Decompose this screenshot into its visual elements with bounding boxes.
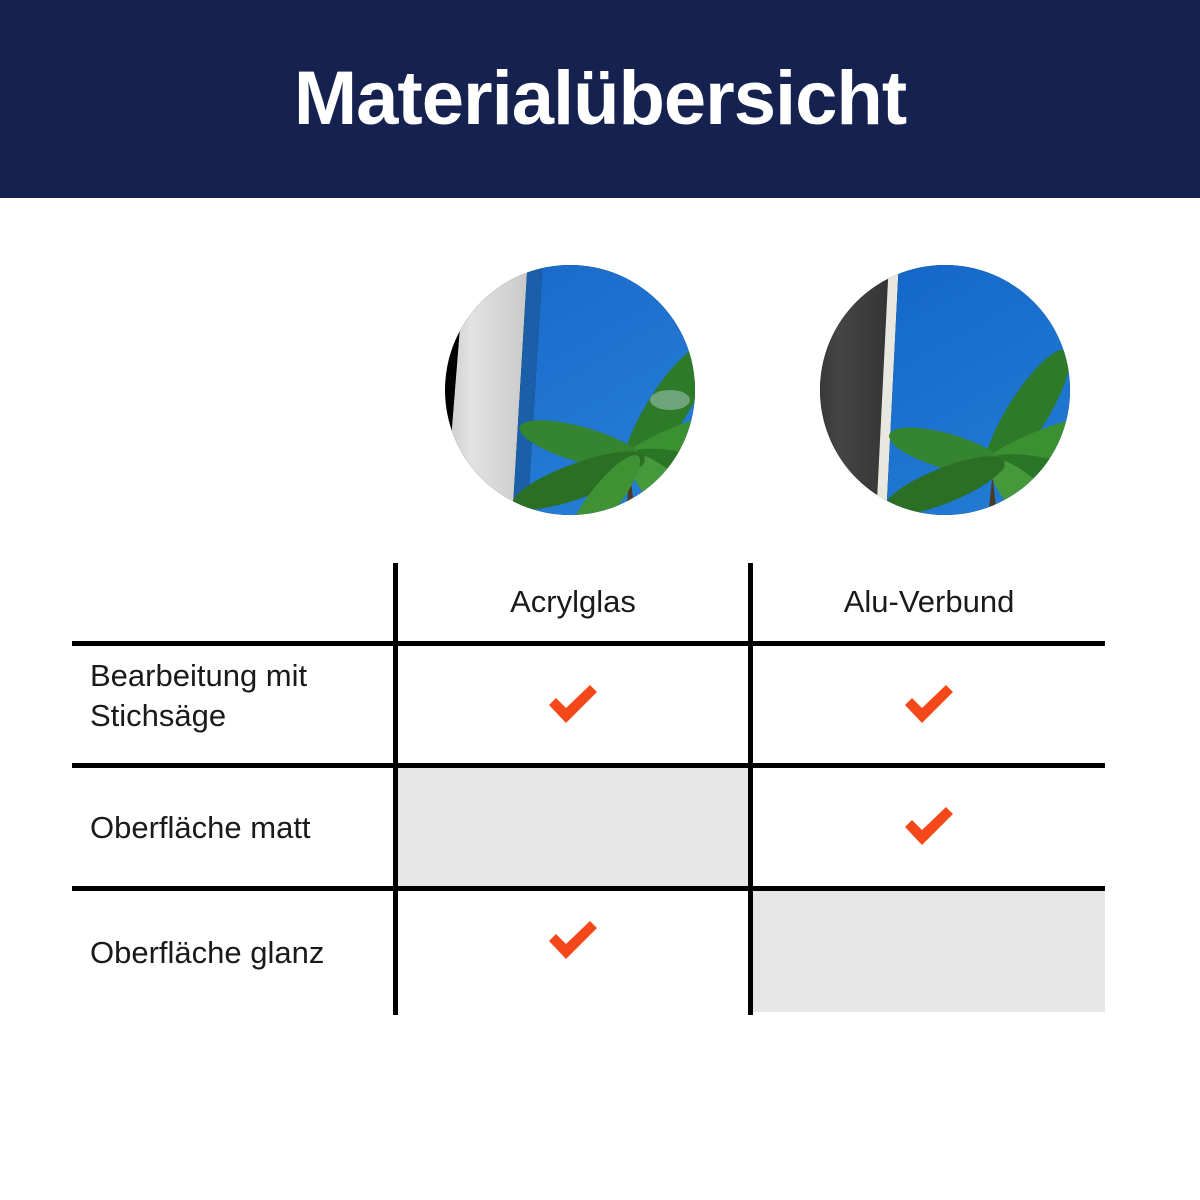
acrylglas-sample-thumbnail — [445, 265, 695, 515]
column-header-acrylglas: Acrylglas — [398, 563, 748, 641]
check-icon — [901, 681, 957, 729]
page-header: Materialübersicht — [0, 0, 1200, 198]
cell-oberflaeche-matt-alu-verbund — [753, 768, 1105, 886]
row-label-oberflaeche-matt: Oberfläche matt — [90, 808, 390, 848]
row-label-bearbeitung: Bearbeitung mit Stichsäge — [90, 656, 390, 735]
acrylglas-sample-image — [445, 265, 695, 515]
check-icon — [545, 681, 601, 729]
row-label-oberflaeche-glanz-line-1: Oberfläche glanz — [90, 933, 390, 973]
row-label-bearbeitung-line-2: Stichsäge — [90, 696, 390, 736]
alu-verbund-sample-image — [820, 265, 1070, 515]
material-overview-page: Materialübersicht — [0, 0, 1200, 1200]
material-samples-row — [0, 265, 1200, 515]
cell-bearbeitung-acrylglas — [398, 646, 748, 763]
cell-oberflaeche-glanz-alu-verbund-unavailable — [753, 891, 1105, 1012]
row-label-oberflaeche-matt-line-1: Oberfläche matt — [90, 808, 390, 848]
material-comparison-table: Acrylglas Alu-Verbund Bearbeitung mit St… — [72, 560, 1105, 1015]
cell-bearbeitung-alu-verbund — [753, 646, 1105, 763]
row-label-bearbeitung-line-1: Bearbeitung mit — [90, 656, 390, 696]
page-title: Materialübersicht — [294, 61, 906, 137]
cell-oberflaeche-glanz-acrylglas — [398, 891, 748, 991]
alu-verbund-sample-thumbnail — [820, 265, 1070, 515]
check-icon — [545, 917, 601, 965]
row-label-oberflaeche-glanz: Oberfläche glanz — [90, 933, 390, 973]
check-icon — [901, 803, 957, 851]
column-header-alu-verbund: Alu-Verbund — [753, 563, 1105, 641]
cell-oberflaeche-matt-acrylglas-unavailable — [398, 768, 748, 886]
